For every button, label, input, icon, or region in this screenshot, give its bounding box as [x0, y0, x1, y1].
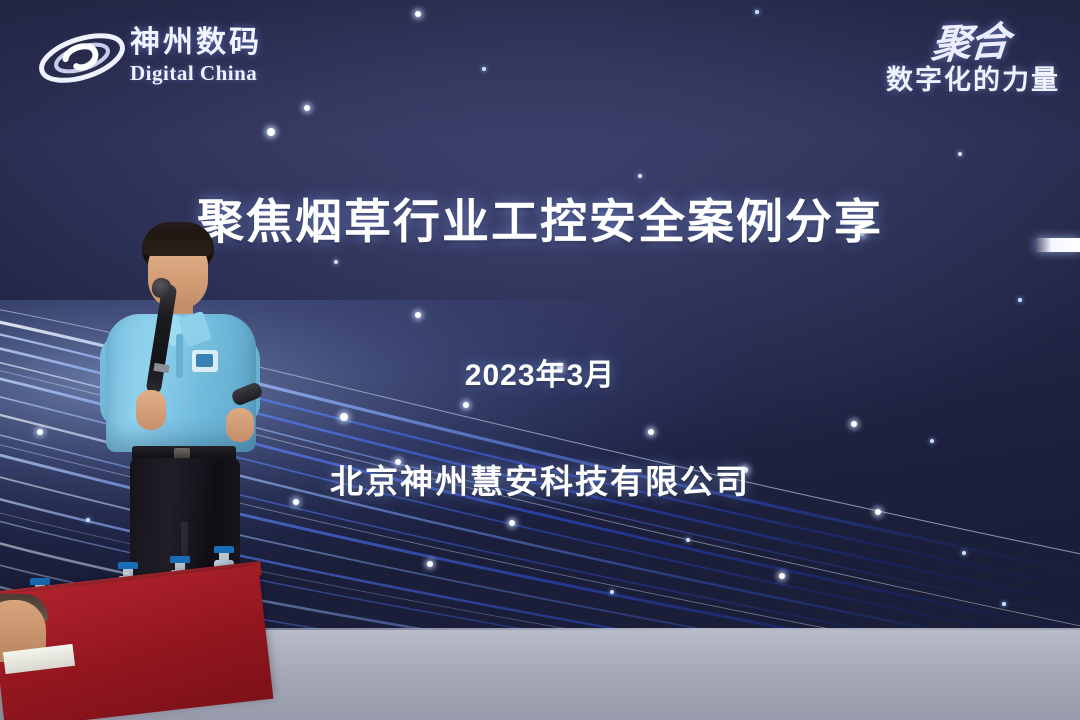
sparkle-particle: [334, 260, 338, 264]
event-logo: 聚合 数字化的力量: [792, 18, 1060, 114]
conference-stage-photo: 神州数码 Digital China 聚合 数字化的力量 聚焦烟草行业工控安全案…: [0, 0, 1080, 720]
sparkle-particle: [958, 152, 962, 156]
bottle-cap: [214, 546, 234, 553]
sparkle-particle: [482, 67, 486, 71]
sparkle-particle: [267, 128, 275, 136]
brand-text: 神州数码 Digital China: [130, 26, 306, 86]
shirt-logo-inner-icon: [196, 354, 213, 367]
bottle-cap: [170, 556, 190, 563]
speaker-hair-front: [142, 230, 214, 256]
sparkle-particle: [755, 10, 759, 14]
sparkle-particle: [638, 174, 642, 178]
brand-logo: 神州数码 Digital China: [36, 14, 306, 106]
brand-name-cn: 神州数码: [130, 26, 306, 60]
speaker-right-hand: [226, 408, 254, 442]
decorative-bar: [1036, 238, 1080, 252]
bottle-cap: [30, 578, 50, 585]
bottle-cap: [118, 562, 138, 569]
sparkle-particle: [415, 11, 421, 17]
speaker-placket: [176, 334, 183, 378]
brand-name-en: Digital China: [130, 60, 306, 86]
bottle-neck: [219, 553, 229, 560]
speaker-left-hand: [136, 390, 166, 430]
swirl-logo-icon: [36, 22, 128, 94]
